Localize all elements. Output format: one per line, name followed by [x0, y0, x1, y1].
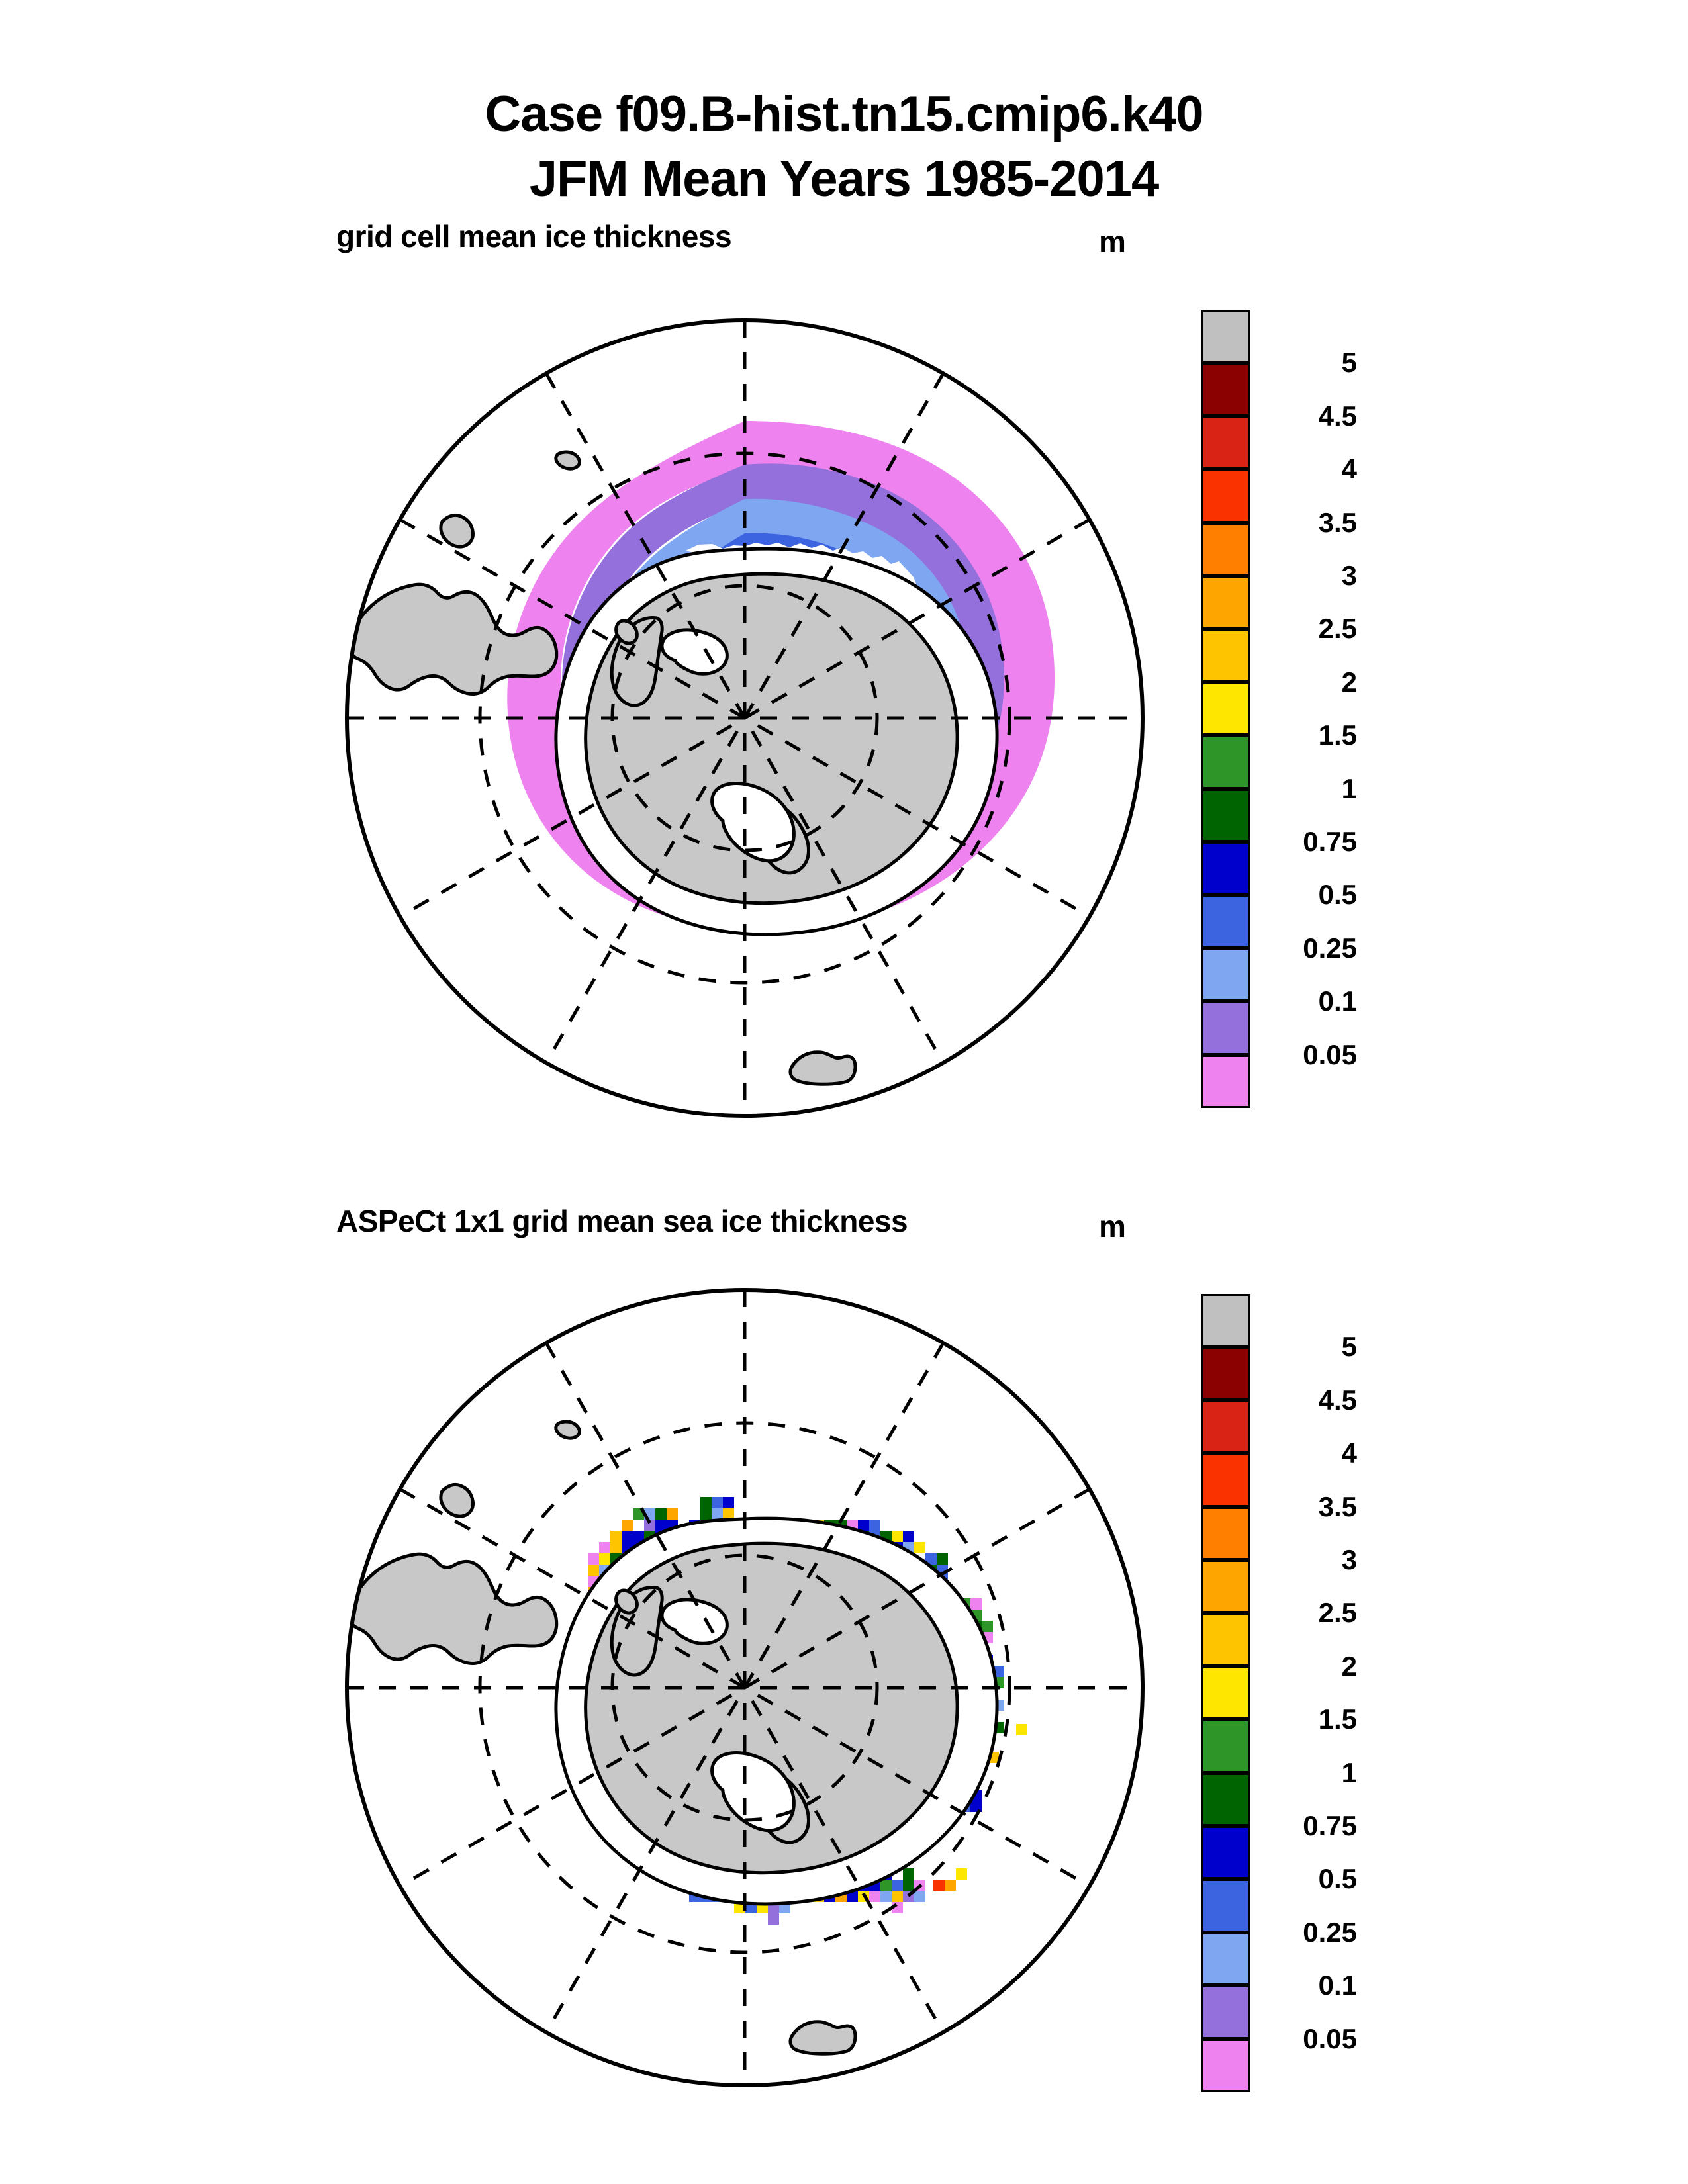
- aspect-cell: [588, 1553, 599, 1565]
- aspect-cell: [945, 1880, 956, 1891]
- colorbar-tick-1.5: 1.5: [1258, 1704, 1357, 1735]
- colorbar-tick-0.1: 0.1: [1258, 985, 1357, 1017]
- colorbar-tick-4: 4: [1258, 453, 1357, 485]
- colorbar-band-5: [1201, 576, 1250, 629]
- colorbar-band-14: [1201, 1055, 1250, 1108]
- aspect-cell: [914, 1891, 925, 1902]
- colorbar-band-4: [1201, 1507, 1250, 1560]
- aspect-cell: [869, 1891, 880, 1902]
- aspect-cell: [622, 1531, 633, 1542]
- colorbar-band-10: [1201, 1826, 1250, 1879]
- colorbar-band-11: [1201, 1879, 1250, 1932]
- aspect-cell: [610, 1531, 622, 1542]
- aspect-cell: [982, 1621, 993, 1632]
- aspect-cell: [858, 1520, 869, 1531]
- title-line-2: JFM Mean Years 1985-2014: [0, 154, 1688, 205]
- aspect-cell: [588, 1565, 599, 1576]
- colorbar-band-8: [1201, 735, 1250, 788]
- panel-1-units: m: [1099, 224, 1126, 259]
- aspect-cell: [937, 1553, 948, 1565]
- colorbar-band-9: [1201, 789, 1250, 842]
- aspect-cell: [712, 1508, 723, 1520]
- title-line-1: Case f09.B-hist.tn15.cmip6.k40: [485, 86, 1203, 142]
- colorbar-tick-4: 4: [1258, 1437, 1357, 1469]
- aspect-cell: [880, 1891, 892, 1902]
- aspect-cell: [970, 1598, 982, 1610]
- colorbar-tick-0.05: 0.05: [1258, 2023, 1357, 2055]
- colorbar-tick-0.1: 0.1: [1258, 1970, 1357, 2001]
- colorbar-band-0: [1201, 1294, 1250, 1347]
- colorbar-band-6: [1201, 1613, 1250, 1666]
- aspect-cell: [892, 1891, 903, 1902]
- peninsula-tip: [616, 621, 637, 643]
- island-upper-left-2: [556, 1422, 580, 1438]
- colorbar-tick-0.75: 0.75: [1258, 826, 1357, 858]
- aspect-cell: [700, 1508, 712, 1520]
- aspect-cell: [667, 1508, 678, 1520]
- colorbar-tick-2: 2: [1258, 1651, 1357, 1682]
- aspect-cell: [599, 1553, 610, 1565]
- aspect-cell: [622, 1520, 633, 1531]
- panel-1-subtitle: grid cell mean ice thickness: [336, 218, 731, 254]
- colorbar-tick-1.5: 1.5: [1258, 719, 1357, 751]
- colorbar-tick-5: 5: [1258, 1331, 1357, 1363]
- tasmania: [790, 1052, 855, 1085]
- colorbar-panel-1-labels: 54.543.532.521.510.750.50.250.10.05: [1258, 310, 1410, 1108]
- colorbar-tick-2.5: 2.5: [1258, 613, 1357, 645]
- aspect-cell: [892, 1880, 903, 1891]
- colorbar-band-7: [1201, 682, 1250, 735]
- colorbar-tick-3.5: 3.5: [1258, 1491, 1357, 1523]
- panel-2-units: m: [1099, 1208, 1126, 1244]
- colorbar-tick-3: 3: [1258, 560, 1357, 592]
- colorbar-tick-0.25: 0.25: [1258, 933, 1357, 964]
- colorbar-tick-0.5: 0.5: [1258, 1863, 1357, 1895]
- colorbar-tick-5: 5: [1258, 347, 1357, 379]
- aspect-cell: [914, 1542, 925, 1553]
- colorbar-band-12: [1201, 948, 1250, 1001]
- colorbar-band-1: [1201, 363, 1250, 416]
- colorbar-band-2: [1201, 1400, 1250, 1453]
- colorbar-tick-0.75: 0.75: [1258, 1810, 1357, 1842]
- falkland-islands: [441, 515, 473, 547]
- colorbar-tick-2.5: 2.5: [1258, 1597, 1357, 1629]
- tasmania-2: [790, 2022, 855, 2054]
- aspect-cell: [1016, 1724, 1027, 1735]
- colorbar-band-9: [1201, 1773, 1250, 1826]
- colorbar-tick-2: 2: [1258, 666, 1357, 698]
- peninsula-tip-2: [616, 1590, 637, 1613]
- colorbar-tick-1: 1: [1258, 1757, 1357, 1789]
- colorbar-band-11: [1201, 895, 1250, 948]
- map-aspect-observations[interactable]: [318, 1261, 1172, 2115]
- aspect-cell: [712, 1497, 723, 1508]
- colorbar-tick-0.5: 0.5: [1258, 879, 1357, 911]
- aspect-cell: [903, 1880, 914, 1891]
- colorbar-band-4: [1201, 523, 1250, 576]
- colorbar-band-3: [1201, 469, 1250, 522]
- colorbar-tick-4.5: 4.5: [1258, 1385, 1357, 1416]
- aspect-cell: [655, 1508, 667, 1520]
- aspect-cell: [869, 1520, 880, 1531]
- colorbar-tick-3.5: 3.5: [1258, 507, 1357, 539]
- colorbar-band-5: [1201, 1560, 1250, 1613]
- colorbar-tick-1: 1: [1258, 773, 1357, 805]
- panel-2-subtitle: ASPeCt 1x1 grid mean sea ice thickness: [336, 1203, 908, 1239]
- colorbar-band-3: [1201, 1453, 1250, 1506]
- colorbar-panel-1[interactable]: [1201, 310, 1250, 1108]
- colorbar-band-1: [1201, 1347, 1250, 1400]
- colorbar-band-13: [1201, 1001, 1250, 1054]
- colorbar-tick-0.25: 0.25: [1258, 1917, 1357, 1948]
- aspect-cell: [655, 1520, 667, 1531]
- aspect-cell: [700, 1497, 712, 1508]
- colorbar-tick-0.05: 0.05: [1258, 1039, 1357, 1071]
- colorbar-panel-2[interactable]: [1201, 1294, 1250, 2092]
- colorbar-band-7: [1201, 1666, 1250, 1719]
- colorbar-band-8: [1201, 1719, 1250, 1772]
- colorbar-band-13: [1201, 1985, 1250, 2038]
- aspect-cell: [880, 1880, 892, 1891]
- colorbar-panel-2-labels: 54.543.532.521.510.750.50.250.10.05: [1258, 1294, 1410, 2092]
- page-title: Case f09.B-hist.tn15.cmip6.k40 JFM Mean …: [0, 89, 1688, 205]
- aspect-cell: [903, 1868, 914, 1880]
- falkland-islands-2: [441, 1484, 473, 1516]
- aspect-cell: [903, 1531, 914, 1542]
- aspect-cell: [768, 1913, 779, 1925]
- colorbar-band-12: [1201, 1933, 1250, 1985]
- aspect-cell: [599, 1542, 610, 1553]
- aspect-cell: [610, 1542, 622, 1553]
- colorbar-tick-3: 3: [1258, 1544, 1357, 1576]
- colorbar-band-2: [1201, 416, 1250, 469]
- colorbar-tick-4.5: 4.5: [1258, 400, 1357, 432]
- colorbar-band-0: [1201, 310, 1250, 363]
- aspect-cell: [933, 1880, 945, 1891]
- aspect-cell: [723, 1497, 734, 1508]
- aspect-cell: [892, 1531, 903, 1542]
- aspect-cell: [956, 1868, 967, 1880]
- colorbar-band-6: [1201, 629, 1250, 682]
- colorbar-band-14: [1201, 2039, 1250, 2092]
- island-upper-left: [556, 452, 580, 469]
- map-model-ice-thickness[interactable]: [318, 291, 1172, 1145]
- colorbar-band-10: [1201, 842, 1250, 895]
